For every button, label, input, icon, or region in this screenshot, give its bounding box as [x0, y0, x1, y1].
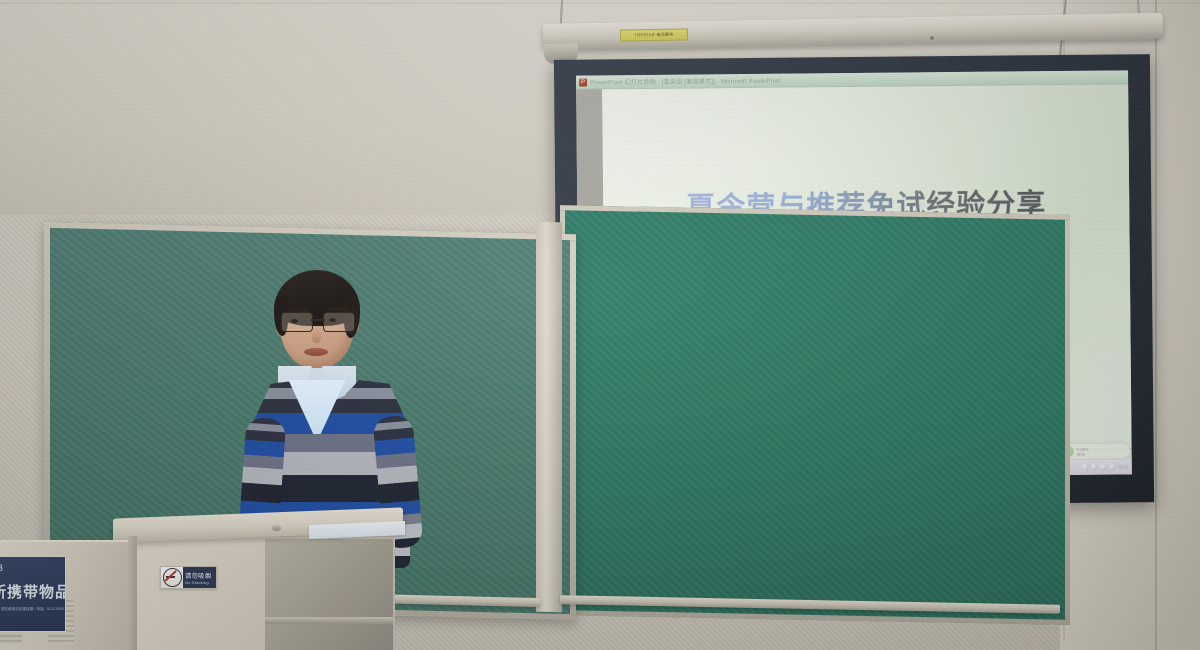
lectern[interactable]	[113, 513, 403, 650]
shield-icon[interactable]	[1099, 464, 1106, 471]
housing-screw-dot	[930, 36, 934, 40]
cabinet-edge	[128, 536, 137, 650]
notice-line-1: B	[0, 563, 4, 573]
chalkboard-divider	[536, 222, 562, 613]
window-title-text: PowerPoint 幻灯片放映 - [葛枭语 [兼容模式]] - Micros…	[590, 76, 781, 87]
eye-left	[291, 319, 298, 323]
no-smoking-label-en: No Smoking	[185, 580, 216, 585]
eye-right	[329, 318, 336, 322]
housing-brand-label: TOPSTAR 电动幕布	[620, 28, 688, 41]
arrow-up-icon[interactable]	[1108, 464, 1115, 471]
nose	[312, 330, 321, 343]
eyebrow-right	[324, 308, 348, 311]
classroom-photo: TOPSTAR 电动幕布 P PowerPoint 幻灯片放映 - [葛枭语 […	[0, 0, 1200, 650]
glasses-bridge	[311, 319, 325, 321]
no-smoking-text-block: 请勿吸烟 No Smoking	[183, 567, 216, 588]
network-icon[interactable]	[1081, 464, 1088, 471]
lectern-equipment-cavity	[265, 539, 393, 650]
right-chalkboard	[560, 205, 1070, 625]
no-smoking-label-cn: 请勿吸烟	[185, 571, 216, 580]
taskbar-clock[interactable]: 20:41	[1117, 464, 1129, 470]
notice-board-sign: B 所携带物品 请在使用后妥善保管 / 电话：6212 0000	[0, 556, 66, 632]
no-smoking-sign: 请勿吸烟 No Smoking	[160, 566, 217, 589]
powerpoint-icon: P	[579, 78, 587, 86]
wall-seam-vertical	[1155, 0, 1157, 650]
volume-icon[interactable]	[1090, 464, 1097, 471]
lectern-keyboard-rail[interactable]	[265, 617, 393, 624]
wall-seam-ceiling	[0, 2, 1200, 4]
system-tray[interactable]: 20:41	[1081, 463, 1132, 470]
tray-download-speed: 0K/s	[1077, 451, 1089, 456]
lectern-lock-knob[interactable]	[272, 525, 281, 531]
notice-line-2: 所携带物品	[0, 581, 66, 602]
notice-line-3: 请在使用后妥善保管 / 电话：6212 0000	[1, 607, 64, 612]
no-smoking-icon	[163, 568, 182, 587]
lens-right	[323, 312, 355, 332]
mouth	[304, 348, 328, 356]
